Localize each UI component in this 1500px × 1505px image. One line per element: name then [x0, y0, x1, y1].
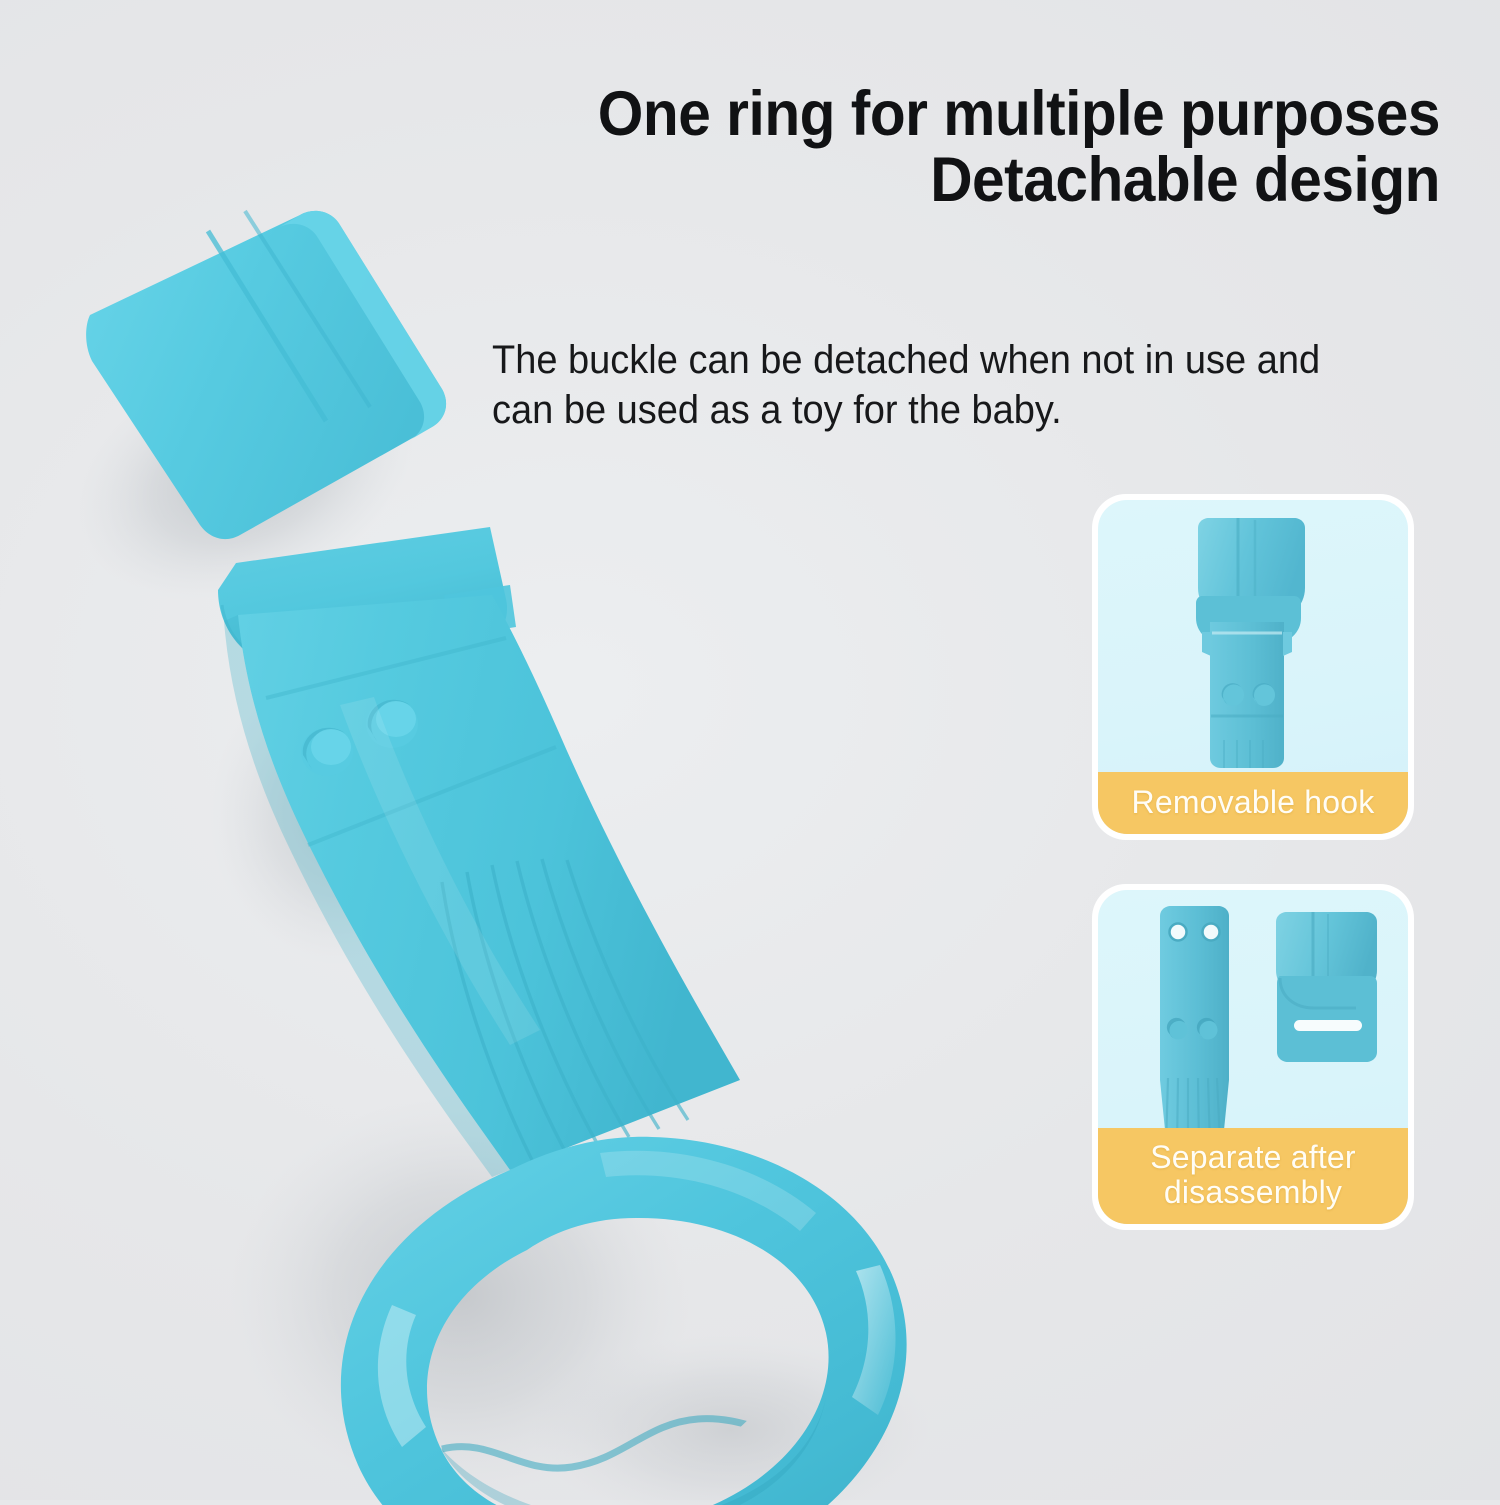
- strap-piece: [1160, 906, 1229, 1148]
- hook-piece: [1276, 912, 1377, 1062]
- caption-line-2: disassembly: [1164, 1174, 1342, 1210]
- headline-line-1: One ring for multiple purposes: [547, 82, 1440, 148]
- feature-card-removable-hook: Removable hook: [1092, 494, 1414, 840]
- headline-line-2: Detachable design: [547, 148, 1440, 214]
- caption-line-1: Separate after: [1150, 1139, 1356, 1175]
- page-title: One ring for multiple purposes Detachabl…: [547, 82, 1440, 213]
- body-paragraph: The buckle can be detached when not in u…: [492, 336, 1383, 435]
- card-caption-separate-after-disassembly: Separate after disassembly: [1098, 1128, 1408, 1224]
- card-caption-removable-hook: Removable hook: [1098, 772, 1408, 834]
- feature-card-separate-after-disassembly: Separate after disassembly: [1092, 884, 1414, 1230]
